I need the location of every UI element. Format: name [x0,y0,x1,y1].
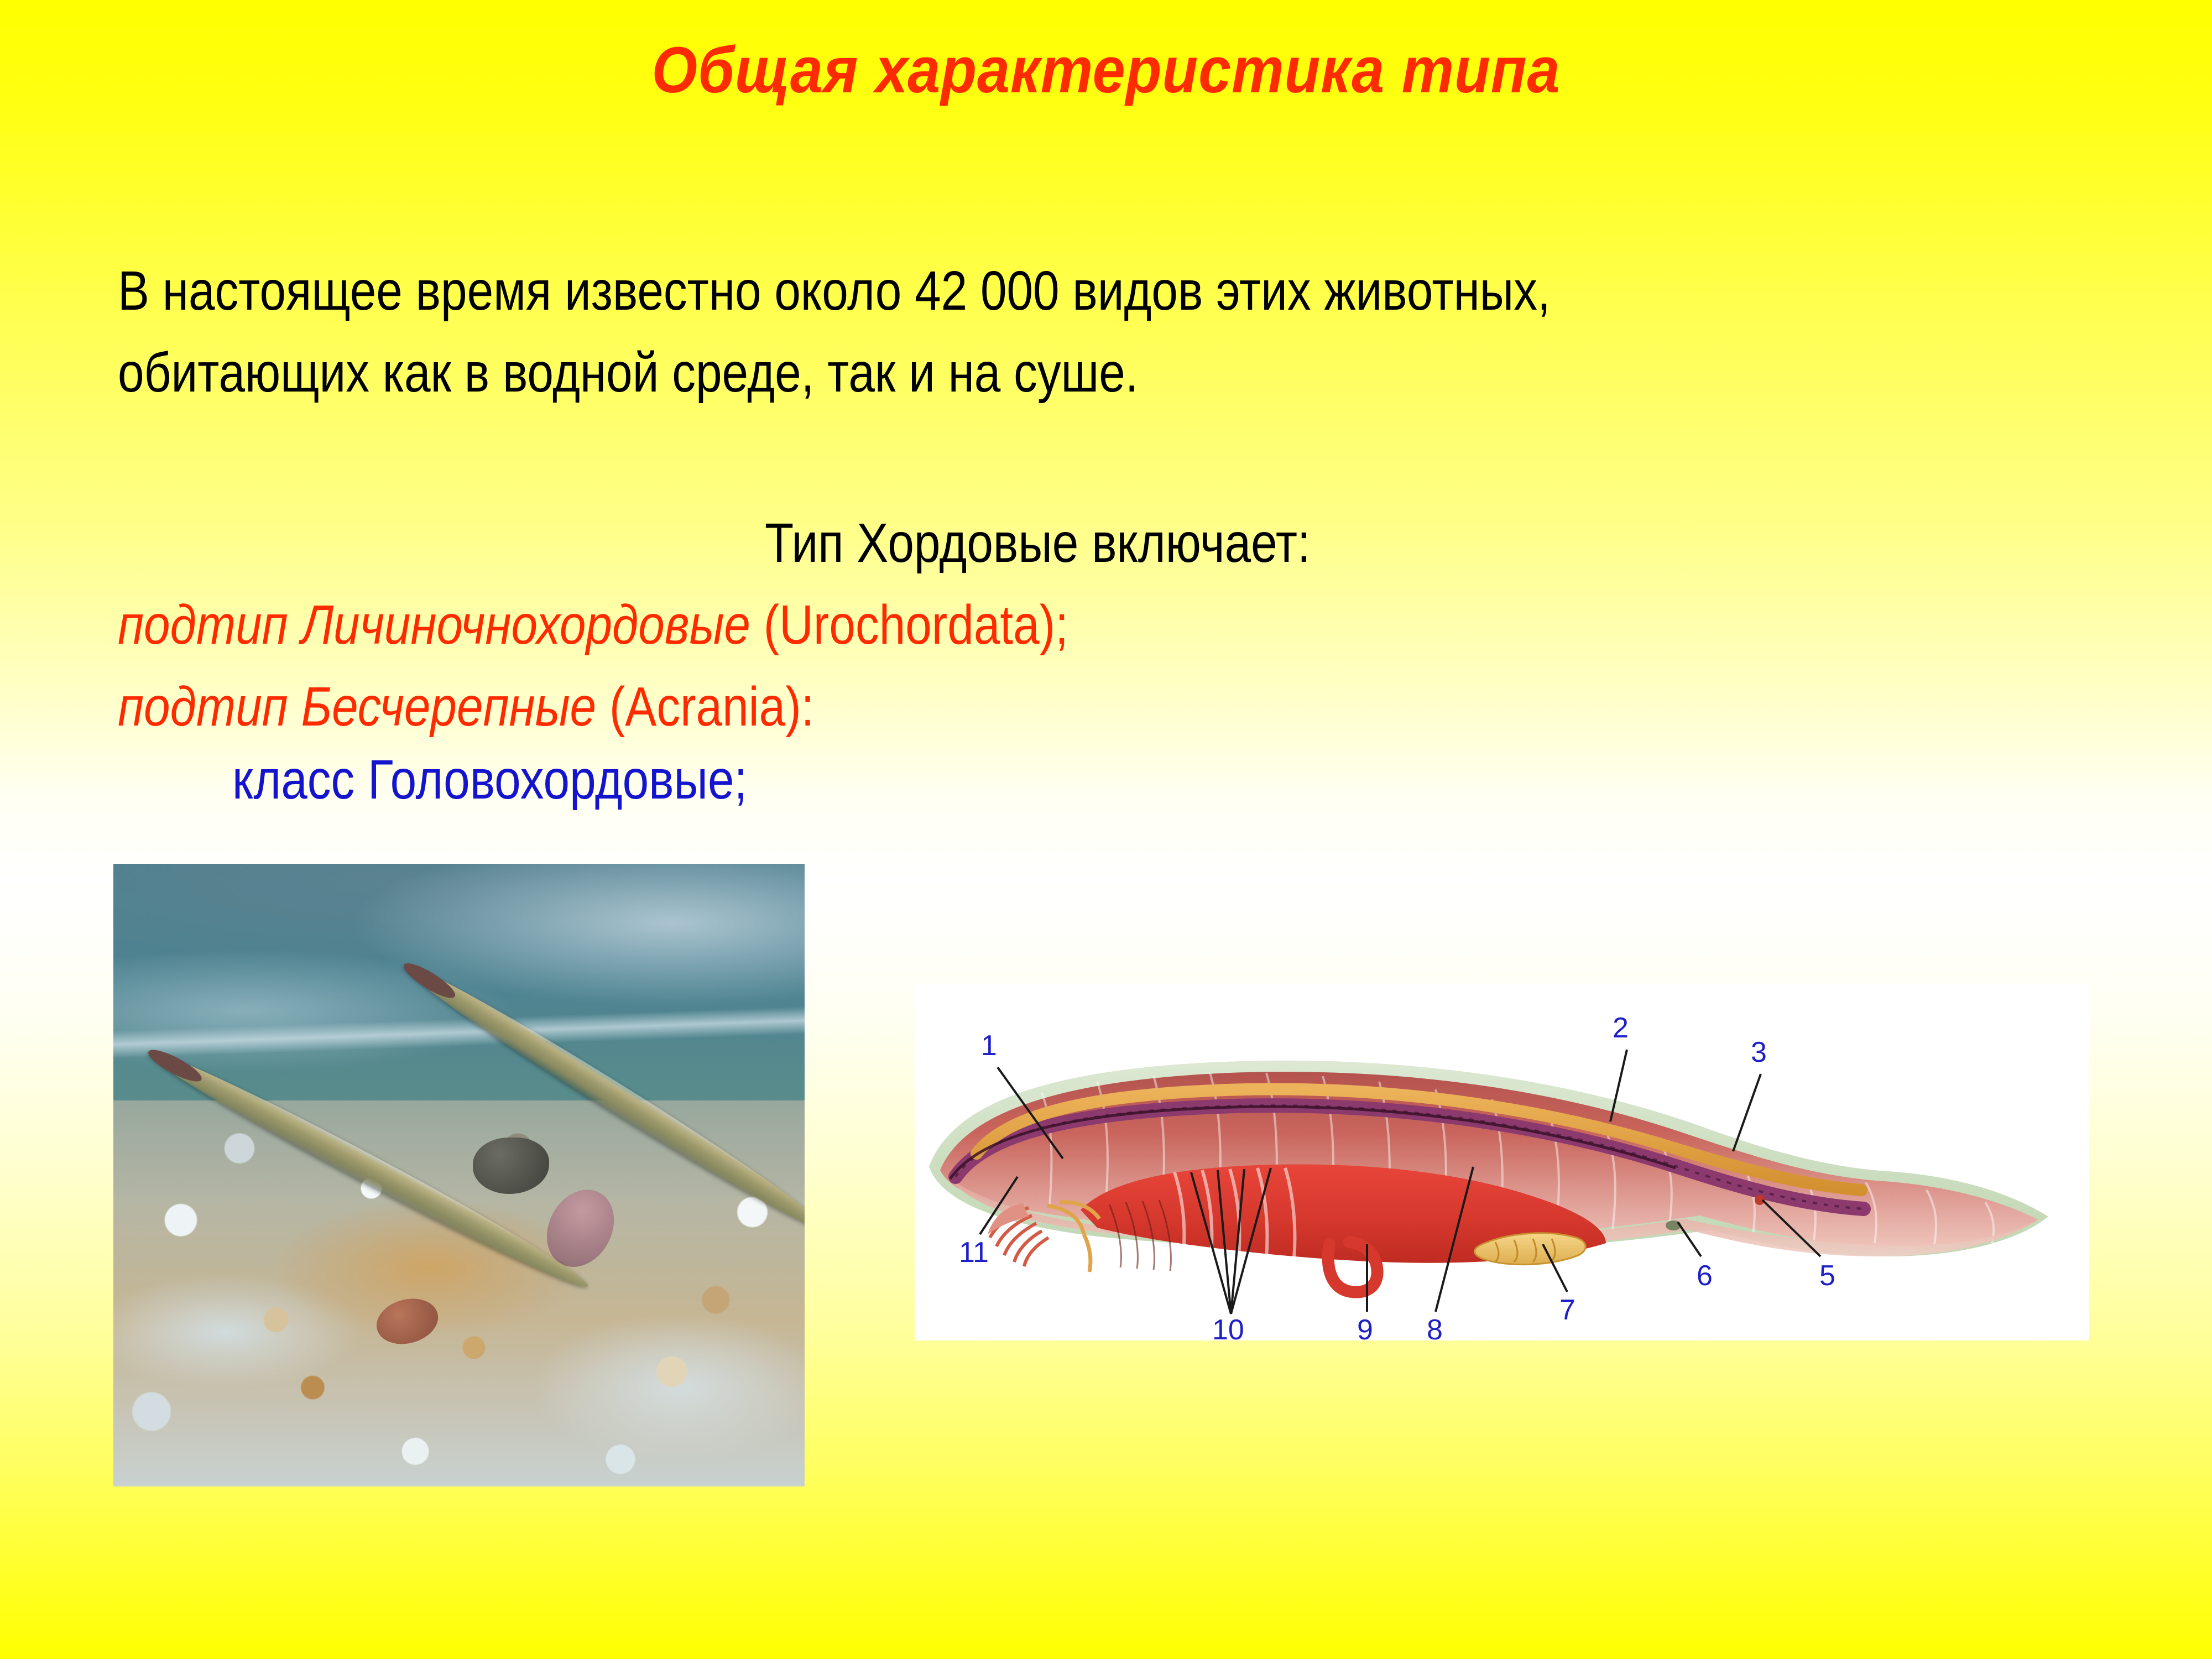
lancelet-photo [113,864,805,1486]
diagram-label-11: 11 [959,1237,989,1269]
diagram-label-6: 6 [1697,1260,1713,1292]
subtype-acrania-russian: подтип Бесчерепные [118,676,609,738]
subtype-urochordata-russian: подтип Личиночнохордовые [118,594,764,656]
leader-3 [1733,1074,1761,1151]
diagram-label-8: 8 [1427,1314,1443,1340]
subtype-urochordata: подтип Личиночнохордовые (Urochordata); [118,584,1068,666]
diagram-label-1: 1 [981,1030,997,1062]
intro-paragraph-line-1: В настоящее время известно около 42 000 … [118,250,1551,332]
subtype-acrania: подтип Бесчерепные (Acrania): [118,666,814,748]
diagram-label-7: 7 [1559,1294,1575,1326]
lancelet-anatomy-svg: 1 2 3 5 6 7 8 9 10 11 [915,984,2089,1340]
diagram-label-5: 5 [1819,1260,1835,1292]
page-title: Общая характеристика типа [111,36,2101,105]
class-cephalochordata: класс Головохордовые; [232,739,747,821]
diagram-label-2: 2 [1613,1012,1629,1044]
subtype-acrania-latin: (Acrania): [609,676,815,738]
diagram-label-10: 10 [1212,1314,1244,1340]
includes-heading: Тип Хордовые включает: [765,502,1311,584]
subtype-urochordata-latin: (Urochordata); [764,594,1068,656]
intro-paragraph-line-2: обитающих как в водной среде, так и на с… [118,332,1139,414]
slide-canvas: Общая характеристика типа В настоящее вр… [0,0,2212,1659]
diagram-label-9: 9 [1357,1314,1373,1340]
diagram-label-3: 3 [1751,1036,1767,1068]
lancelet-anatomy-diagram: 1 2 3 5 6 7 8 9 10 11 [915,984,2089,1340]
